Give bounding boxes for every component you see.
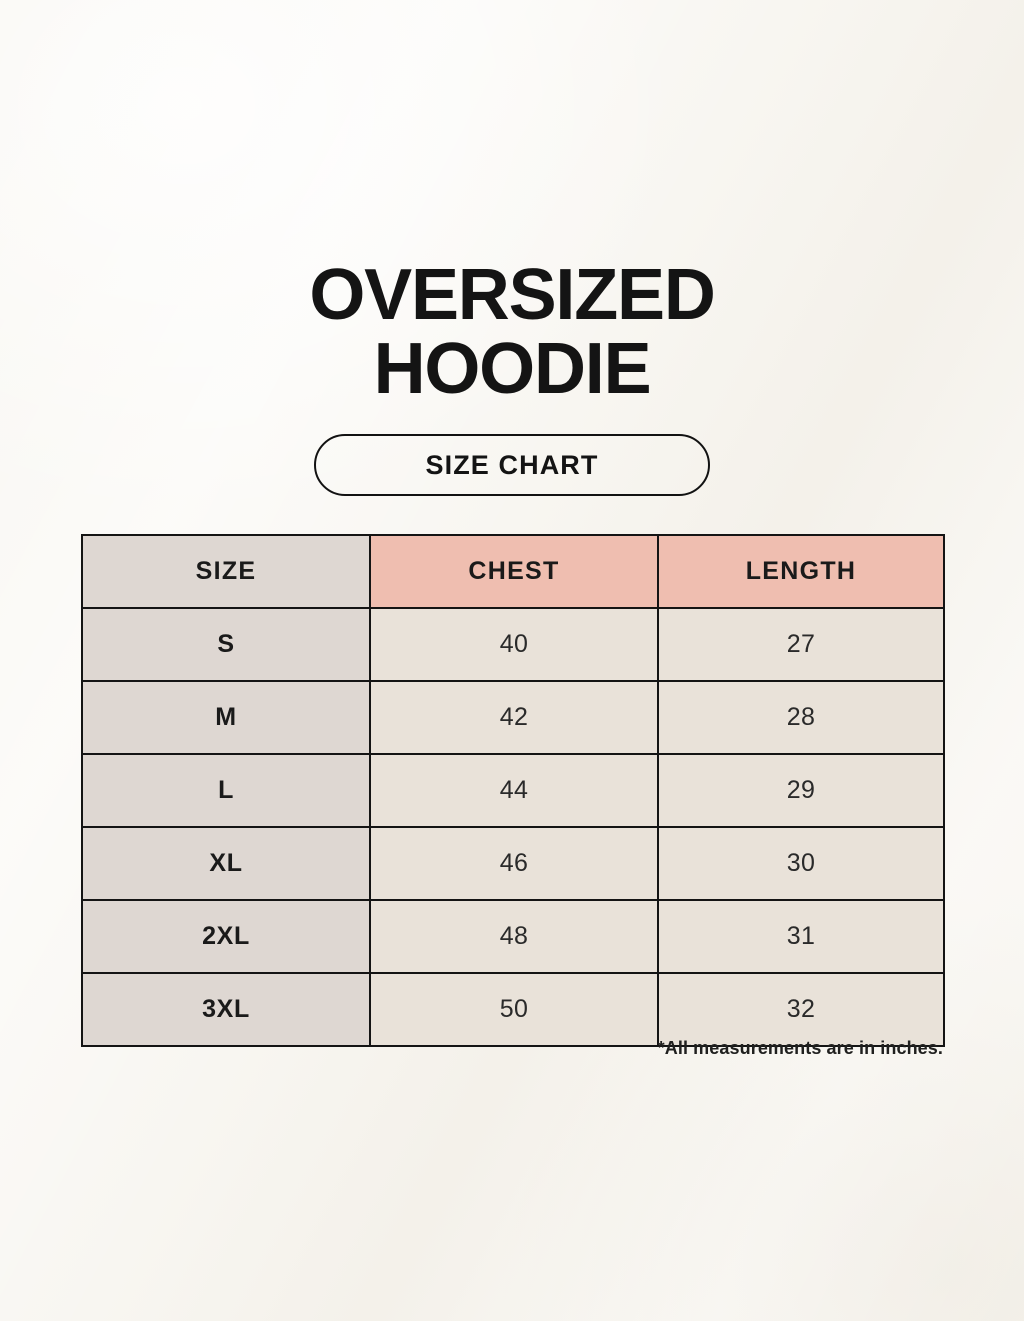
page-title: OVERSIZED HOODIE [0, 258, 1024, 406]
table-row: L 44 29 [82, 754, 944, 827]
cell-chest: 40 [370, 608, 658, 681]
cell-chest: 48 [370, 900, 658, 973]
column-header-chest: CHEST [370, 535, 658, 608]
column-header-size: SIZE [82, 535, 370, 608]
table-row: XL 46 30 [82, 827, 944, 900]
cell-chest: 42 [370, 681, 658, 754]
cell-length: 27 [658, 608, 944, 681]
size-chart-badge: SIZE CHART [314, 434, 710, 496]
cell-length: 28 [658, 681, 944, 754]
cell-size: M [82, 681, 370, 754]
cell-chest: 46 [370, 827, 658, 900]
measurements-footnote: *All measurements are in inches. [81, 1038, 943, 1059]
cell-size: 2XL [82, 900, 370, 973]
cell-length: 30 [658, 827, 944, 900]
cell-size: L [82, 754, 370, 827]
size-chart-table: SIZE CHEST LENGTH S 40 27 M 42 28 L [81, 534, 945, 1047]
table-header-row: SIZE CHEST LENGTH [82, 535, 944, 608]
table-body: S 40 27 M 42 28 L 44 29 XL 46 30 [82, 608, 944, 1046]
cell-length: 31 [658, 900, 944, 973]
size-chart-table-container: SIZE CHEST LENGTH S 40 27 M 42 28 L [81, 534, 943, 1047]
cell-size: 3XL [82, 973, 370, 1046]
table-header: SIZE CHEST LENGTH [82, 535, 944, 608]
table-row: M 42 28 [82, 681, 944, 754]
size-chart-badge-container: SIZE CHART [0, 434, 1024, 496]
cell-length: 32 [658, 973, 944, 1046]
size-chart-page: OVERSIZED HOODIE SIZE CHART SIZE CHEST L… [0, 0, 1024, 1321]
table-row: S 40 27 [82, 608, 944, 681]
table-row: 3XL 50 32 [82, 973, 944, 1046]
cell-length: 29 [658, 754, 944, 827]
cell-chest: 44 [370, 754, 658, 827]
table-row: 2XL 48 31 [82, 900, 944, 973]
column-header-length: LENGTH [658, 535, 944, 608]
cell-size: S [82, 608, 370, 681]
cell-chest: 50 [370, 973, 658, 1046]
cell-size: XL [82, 827, 370, 900]
